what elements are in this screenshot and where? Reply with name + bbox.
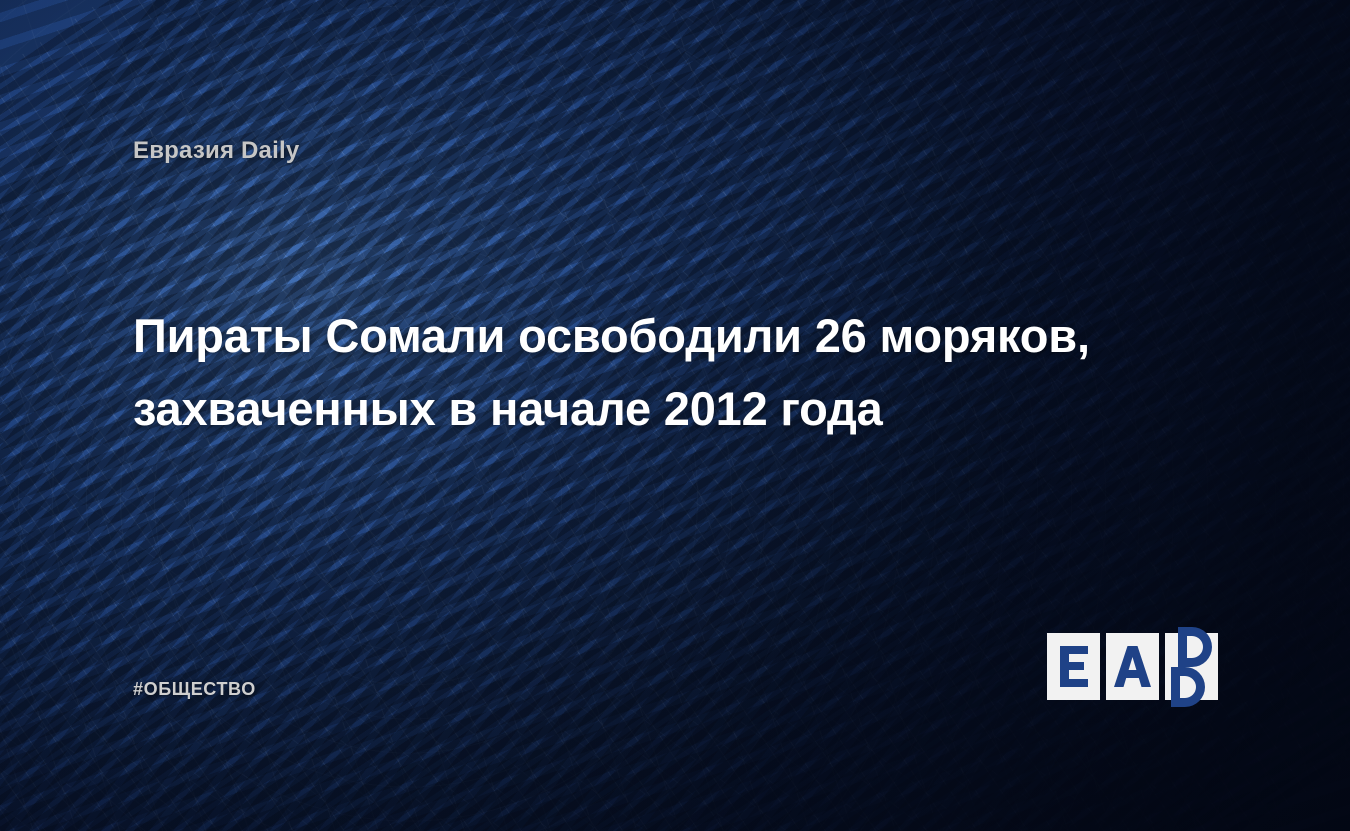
brand-name: Евразия Daily: [133, 137, 299, 165]
eadaily-logo[interactable]: [1047, 633, 1219, 701]
news-share-card: Евразия Daily Пираты Сомали освободили 2…: [0, 0, 1350, 831]
logo-letter-e: [1060, 646, 1088, 687]
category-tag[interactable]: #ОБЩЕСТВО: [133, 679, 256, 700]
page-title: Пираты Сомали освободили 26 моряков, зах…: [133, 299, 1143, 445]
card-content: Евразия Daily Пираты Сомали освободили 2…: [0, 0, 1350, 831]
